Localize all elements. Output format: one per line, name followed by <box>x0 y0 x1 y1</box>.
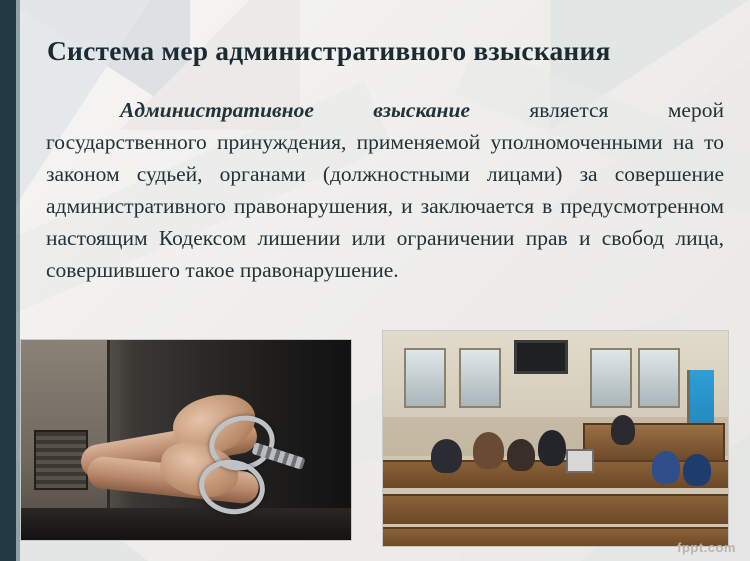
body-rest-text: является мерой государственного принужде… <box>46 98 724 282</box>
body-lead-term: Административное взыскание <box>120 98 470 122</box>
window <box>404 348 446 408</box>
person <box>683 454 711 486</box>
left-accent-bar <box>0 0 16 561</box>
slide-body-text: Административное взыскание является меро… <box>46 94 724 286</box>
person <box>431 439 462 473</box>
person <box>611 415 635 445</box>
window <box>590 348 632 408</box>
window <box>638 348 680 408</box>
desk-monitor <box>566 449 594 472</box>
vent-grille <box>34 430 88 490</box>
fppt-watermark: fppt.com <box>677 540 736 555</box>
person <box>538 430 566 467</box>
presentation-slide: Система мер административного взыскания … <box>0 0 750 561</box>
courtroom-bench <box>383 494 728 524</box>
handcuffs-image <box>20 339 352 541</box>
courtroom-image <box>382 330 729 547</box>
wall-monitor <box>514 340 568 374</box>
person <box>507 439 535 471</box>
person <box>473 432 504 469</box>
person <box>652 451 680 483</box>
floor-shadow <box>21 508 351 540</box>
window <box>459 348 501 408</box>
slide-title: Система мер административного взыскания <box>47 34 727 68</box>
